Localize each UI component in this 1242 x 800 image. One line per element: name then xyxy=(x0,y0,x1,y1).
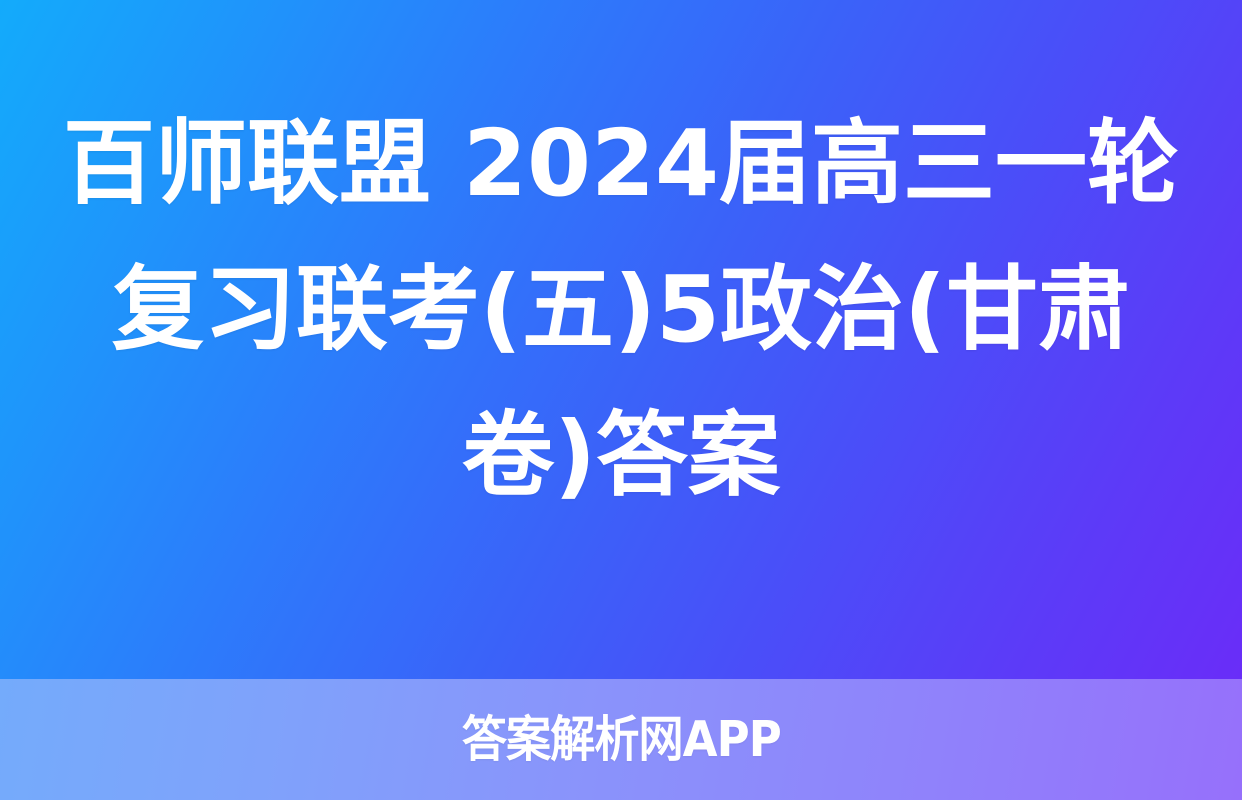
footer-brand-bar: 答案解析网APP xyxy=(0,679,1242,800)
poster-canvas: 百师联盟 2024届高三一轮复习联考(五)5政治(甘肃卷)答案 答案解析网APP xyxy=(0,0,1242,800)
page-title: 百师联盟 2024届高三一轮复习联考(五)5政治(甘肃卷)答案 xyxy=(60,91,1182,529)
brand-label: 答案解析网APP xyxy=(461,715,780,764)
title-block: 百师联盟 2024届高三一轮复习联考(五)5政治(甘肃卷)答案 xyxy=(0,0,1242,679)
